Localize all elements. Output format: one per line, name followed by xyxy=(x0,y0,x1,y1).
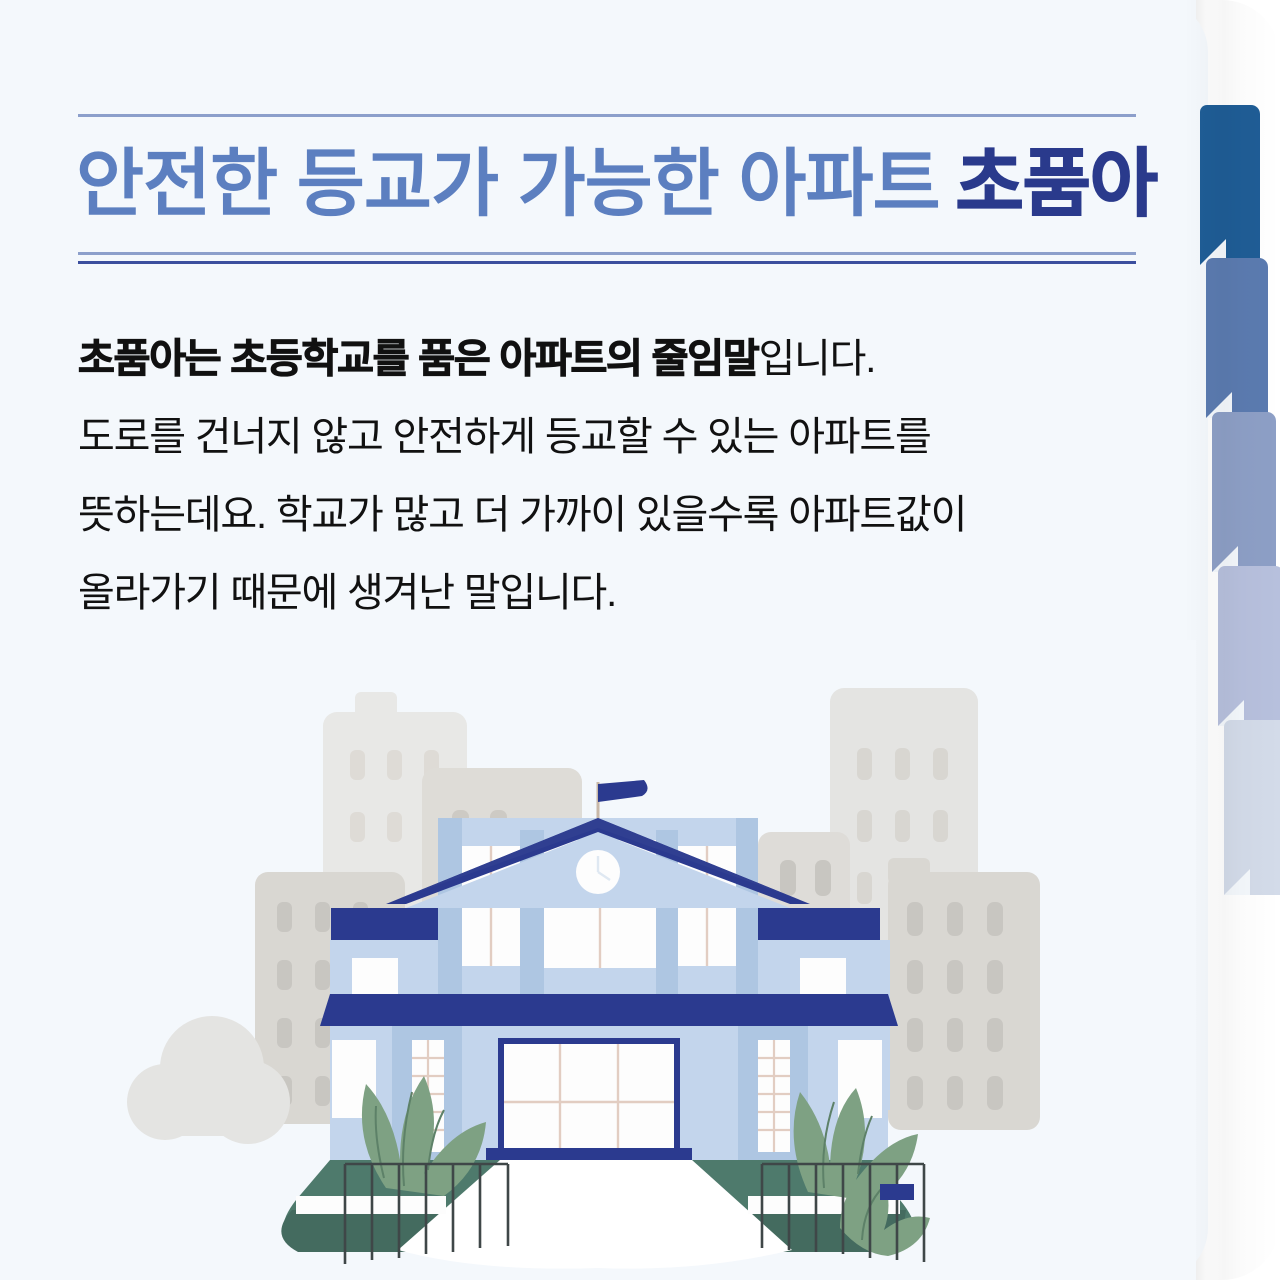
school-wing-band-left xyxy=(331,908,451,940)
body-copy: 초품아는 초등학교를 품은 아파트의 줄임말입니다. 도로를 건너지 않고 안전… xyxy=(78,320,1108,632)
school-scene-svg xyxy=(0,640,1196,1280)
body-line-4-rest: 올라가기 때문에 생겨난 말입니다. xyxy=(78,571,616,615)
tab-fold-5 xyxy=(1224,869,1250,895)
index-tab-3[interactable] xyxy=(1212,412,1276,572)
page-title-light: 안전한 등교가 가능한 아파트 xyxy=(76,147,940,221)
body-line-3-rest: 뜻하는데요. 학교가 많고 더 가까이 있을수록 아파트값이 xyxy=(78,493,966,537)
page-title-strong: 초품아 xyxy=(956,147,1157,221)
illustration-school-scene xyxy=(0,640,1196,1280)
page-title: 안전한 등교가 가능한 아파트 초품아 xyxy=(76,128,1146,240)
school-clock xyxy=(576,850,620,894)
body-line-3: 뜻하는데요. 학교가 많고 더 가까이 있을수록 아파트값이 xyxy=(78,476,1108,554)
apartment-tower-right-front xyxy=(888,858,1040,1130)
body-line-1-bold: 초품아는 초등학교를 품은 아파트의 줄임말 xyxy=(78,337,758,381)
body-line-4: 올라가기 때문에 생겨난 말입니다. xyxy=(78,554,1108,632)
index-tab-2[interactable] xyxy=(1206,258,1268,418)
body-line-2-rest: 도로를 건너지 않고 안전하게 등교할 수 있는 아파트를 xyxy=(78,415,931,459)
index-tab-4[interactable] xyxy=(1218,566,1280,726)
index-tab-5[interactable] xyxy=(1224,720,1280,895)
body-line-1: 초품아는 초등학교를 품은 아파트의 줄임말입니다. xyxy=(78,320,1108,398)
body-line-2: 도로를 건너지 않고 안전하게 등교할 수 있는 아파트를 xyxy=(78,398,1108,476)
header-rule-bottom-dark xyxy=(78,261,1136,264)
index-tab-1[interactable] xyxy=(1200,105,1260,265)
header-rule-bottom-light xyxy=(78,252,1136,255)
card-news-slide: 안전한 등교가 가능한 아파트 초품아 초품아는 초등학교를 품은 아파트의 줄… xyxy=(0,0,1280,1280)
header-rule-top xyxy=(78,114,1136,117)
school-canopy xyxy=(320,994,898,1026)
lawn-navy-accent xyxy=(880,1184,914,1200)
body-line-1-rest: 입니다. xyxy=(758,337,875,381)
